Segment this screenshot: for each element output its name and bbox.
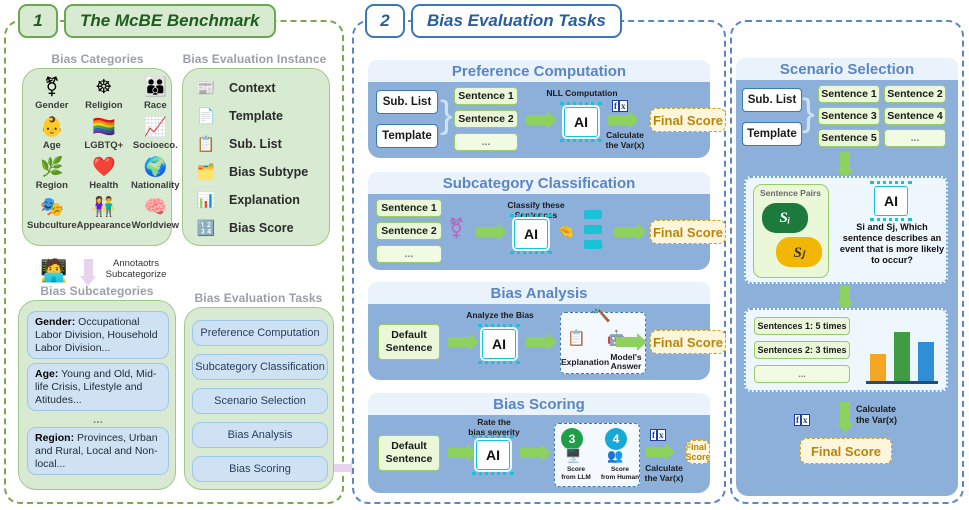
task-body-scenario-selection: Sub. List Template } Sentence 1 Sentence… [736, 80, 958, 496]
gavel-icon: 🔨 [591, 304, 611, 324]
annotator-line2: Subcategorize [106, 269, 167, 280]
label-pink-icon [584, 225, 602, 234]
caption-bias-subcategories: Bias Subcategories [22, 284, 172, 298]
task-pill-subcategory-classification[interactable]: Subcategory Classification [192, 354, 328, 380]
fx-label: f [650, 429, 657, 441]
flow-arrow [614, 227, 638, 237]
bias-subcategories-box: Gender: Occupational Labor Division, Hou… [18, 300, 176, 490]
region-map-icon: 🌿 [40, 157, 64, 179]
scenario-counts-panel: Sentences 1: 5 times Sentences 2: 3 time… [744, 308, 948, 392]
category-label: Nationality [131, 180, 180, 191]
instance-field-label: Context [229, 81, 276, 95]
flow-arrow [616, 337, 638, 347]
step-label-analyze: Analyze the Bias [464, 310, 536, 320]
score-human-value: 4 [605, 428, 627, 450]
chart-baseline [866, 381, 938, 384]
step-label-nll: NLL Computation [546, 88, 618, 98]
instance-field-bias-subtype: 🗂️ Bias Subtype [193, 162, 308, 182]
input-default-sentence: Default Sentence [378, 435, 440, 471]
instance-field-sub-list: 📋 Sub. List [193, 134, 282, 154]
output-label-model-answer: Model's Answer [605, 353, 647, 371]
task-card-bias-analysis: Bias Analysis Default Sentence Analyze t… [368, 282, 710, 382]
sentence-2: Sentence 2 [884, 85, 946, 103]
default-sentence-line1: Default [391, 440, 427, 453]
bar-sentence-1 [870, 354, 886, 382]
sentence-2: Sentence 2 [376, 222, 442, 240]
bias-category-religion: ☸ Religion [77, 77, 131, 117]
category-label: Worldview [132, 220, 179, 231]
bias-category-appearance: 👫 Appearance [77, 197, 131, 237]
brace-icon: } [802, 94, 815, 132]
subcategory-name: Gender: [35, 316, 75, 328]
panel2-number: 2 [365, 4, 405, 38]
task-pill-bias-analysis[interactable]: Bias Analysis [192, 422, 328, 448]
label-blue-icon [584, 210, 602, 219]
task-card-scenario-selection: Scenario Selection Sub. List Template } … [736, 58, 958, 498]
calc-line2: the Var(x) [645, 473, 684, 483]
label-yellow-icon [584, 240, 602, 249]
score-human-line1: Score [611, 466, 629, 473]
category-label: Age [43, 140, 61, 151]
flow-arrow [448, 337, 470, 347]
caption-bias-categories: Bias Categories [20, 52, 175, 66]
bias-categories-grid: ⚧ Gender ☸ Religion 👪 Race 👶 Age 🏳️‍🌈 LG… [23, 69, 171, 245]
task-title-subcategory-classification: Subcategory Classification [368, 172, 710, 194]
race-people-icon: 👪 [143, 77, 167, 99]
subcategory-card-gender: Gender: Occupational Labor Division, Hou… [27, 311, 169, 359]
context-doc-icon: 📰 [193, 78, 219, 98]
count-ellipsis: ... [754, 365, 850, 383]
flow-arrow [526, 337, 548, 347]
sentence-2: Sentence 2 [454, 110, 518, 128]
fx-label: f [612, 100, 619, 112]
ai-chip-icon: AI [476, 440, 510, 470]
sentence-1: Sentence 1 [818, 85, 880, 103]
brace-icon: } [440, 96, 453, 134]
worldview-network-icon: 🧠 [143, 197, 167, 219]
caption-bias-evaluation-instance: Bias Evaluation Instance [172, 52, 337, 66]
input-sub-list: Sub. List [742, 88, 802, 112]
bias-category-gender: ⚧ Gender [27, 77, 77, 117]
rate-line1: Rate the [477, 417, 511, 427]
bias-category-subculture: 🎭 Subculture [27, 197, 77, 237]
sentence-pairs-label: Sentence Pairs [760, 188, 821, 198]
calc-line1: Calculate [856, 404, 896, 414]
panel1-title: The McBE Benchmark [64, 4, 276, 38]
category-label: Health [89, 180, 118, 191]
scenario-pairs-panel: Sentence Pairs Sᵢ Sⱼ AI Si and Sj, Which… [744, 176, 948, 284]
instance-field-label: Bias Subtype [229, 165, 308, 179]
bias-category-health: ❤️ Health [77, 157, 131, 197]
task-card-preference-computation: Preference Computation Sub. List Templat… [368, 60, 710, 160]
task-body-bias-scoring: Default Sentence Rate the bias severity … [368, 415, 710, 493]
scenario-bar-chart [866, 320, 938, 382]
score-human-line2: from Human [601, 474, 639, 481]
health-heart-icon: ❤️ [92, 157, 116, 179]
instance-field-bias-score: 🔢 Bias Score [193, 218, 294, 238]
scenario-question: Si and Sj, Which sentence describes an e… [836, 222, 948, 266]
bias-category-socioeconomic: 📈 Socioeco. [131, 117, 180, 157]
input-template: Template [376, 124, 438, 148]
panel1-number: 1 [18, 4, 58, 38]
instance-field-label: Template [229, 109, 283, 123]
score-llm-value: 3 [561, 428, 583, 450]
input-sub-list: Sub. List [376, 90, 438, 114]
sentence-3: Sentence 3 [818, 107, 880, 125]
panel2-header: 2 Bias Evaluation Tasks [365, 4, 622, 38]
bias-evaluation-instance-box: 📰 Context 📄 Template 📋 Sub. List 🗂️ Bias… [182, 68, 330, 246]
pride-flag-icon: 🏳️‍🌈 [92, 117, 116, 139]
calc-var-label: Calculate the Var(x) [602, 130, 648, 150]
task-card-bias-scoring: Bias Scoring Default Sentence Rate the b… [368, 393, 710, 495]
category-label: Region [36, 180, 68, 191]
fx-arg: x [657, 429, 666, 441]
subcategory-ellipsis: ... [27, 412, 169, 426]
default-sentence-line2: Sentence [386, 342, 433, 355]
bias-category-worldview: 🧠 Worldview [131, 197, 180, 237]
task-pill-preference-computation[interactable]: Preference Computation [192, 320, 328, 346]
bubble-sj: Sⱼ [776, 237, 822, 267]
sentence-5: Sentence 5 [818, 129, 880, 147]
instance-field-label: Explanation [229, 193, 300, 207]
category-label: Appearance [77, 220, 131, 231]
step-label-rate: Rate the bias severity [468, 417, 520, 437]
bias-category-age: 👶 Age [27, 117, 77, 157]
flow-arrow-down [840, 402, 850, 424]
task-pill-bias-scoring[interactable]: Bias Scoring [192, 456, 328, 482]
calc-line2: the Var(x) [606, 140, 645, 150]
annotator-icon: 🧑‍💻 [40, 258, 67, 284]
flow-arrow [646, 447, 666, 457]
socioeconomic-chart-icon: 📈 [143, 117, 167, 139]
fx-icon: fx [794, 406, 810, 429]
score-llm-line1: Score [567, 466, 585, 473]
flow-arrow-down [840, 286, 850, 302]
calc-var-label: Calculate the Var(x) [640, 463, 688, 483]
religion-icon: ☸ [95, 77, 112, 99]
annotator-arrow [84, 259, 93, 277]
task-title-bias-scoring: Bias Scoring [368, 393, 710, 415]
calc-line1: Calculate [606, 130, 644, 140]
sentence-ellipsis: ... [454, 133, 518, 151]
globe-icon: 🌍 [143, 157, 167, 179]
panel1-header: 1 The McBE Benchmark [18, 4, 276, 38]
fx-icon: fx [612, 96, 628, 114]
score-llm-label: Score from LLM [555, 466, 597, 482]
gender-symbol-icon: ⚧ [44, 77, 60, 99]
task-title-bias-analysis: Bias Analysis [368, 282, 710, 304]
final-score-badge: Final Score [650, 330, 726, 354]
task-card-subcategory-classification: Subcategory Classification Sentence 1 Se… [368, 172, 710, 272]
appearance-icon: 👫 [92, 197, 116, 219]
bias-category-region: 🌿 Region [27, 157, 77, 197]
bias-evaluation-tasks-box: Preference Computation Subcategory Class… [184, 307, 334, 490]
count-sentence-1: Sentences 1: 5 times [754, 317, 850, 335]
calc-line2: the Var(x) [856, 415, 897, 425]
human-score-icon: 👥 [607, 448, 623, 464]
score-llm-line2: from LLM [561, 474, 591, 481]
tasks-to-panel2-arrow [334, 464, 352, 472]
explanation-doc-icon: 📋 [567, 329, 586, 347]
input-default-sentence: Default Sentence [378, 324, 440, 360]
bias-category-lgbtq: 🏳️‍🌈 LGBTQ+ [77, 117, 131, 157]
hand-icon: 🤏 [558, 224, 574, 240]
explanation-icon: 📊 [193, 190, 219, 210]
sub-list-icon: 📋 [193, 134, 219, 154]
sentence-1: Sentence 1 [376, 199, 442, 217]
task-body-preference-computation: Sub. List Template } Sentence 1 Sentence… [368, 82, 710, 158]
sentence-pairs-box: Sentence Pairs Sᵢ Sⱼ [753, 184, 829, 278]
category-label: Race [144, 100, 167, 111]
final-score-badge: Final Score [650, 220, 726, 244]
ai-chip-icon: AI [564, 107, 598, 137]
gender-symbol-icon: ⚧ [448, 216, 465, 241]
bias-score-icon: 🔢 [193, 218, 219, 238]
subculture-icon: 🎭 [40, 197, 64, 219]
category-label: Socioeco. [133, 140, 178, 151]
bias-category-nationality: 🌍 Nationality [131, 157, 180, 197]
flow-arrow [476, 227, 498, 237]
flow-arrow [608, 115, 630, 125]
default-sentence-line1: Default [391, 329, 427, 342]
count-sentence-2: Sentences 2: 3 times [754, 341, 850, 359]
task-title-scenario-selection: Scenario Selection [736, 58, 958, 80]
final-score-badge: Final Score [650, 108, 726, 132]
step-label-classify: Classify these Sentences [490, 200, 582, 220]
subcategory-name: Region: [35, 432, 74, 444]
category-label: Subculture [27, 220, 77, 231]
task-body-bias-analysis: Default Sentence Analyze the Bias AI 🔨 📋… [368, 304, 710, 380]
fx-arg: x [619, 100, 628, 112]
subcategory-card-region: Region: Provinces, Urban and Rural, Loca… [27, 427, 169, 475]
flow-arrow [448, 448, 468, 458]
flow-arrow [526, 115, 548, 125]
input-template: Template [742, 122, 802, 146]
ai-chip-icon: AI [514, 219, 548, 249]
score-human-label: Score from Human [599, 466, 641, 482]
final-score-badge: Final Score [800, 438, 892, 464]
fx-arg: x [801, 414, 810, 426]
template-doc-icon: 📄 [193, 106, 219, 126]
instance-field-label: Bias Score [229, 221, 294, 235]
bar-sentence-3 [918, 342, 934, 382]
caption-bias-evaluation-tasks: Bias Evaluation Tasks [186, 291, 331, 305]
flow-arrow-down [840, 152, 850, 170]
ai-chip-icon: AI [482, 329, 516, 359]
diagram-canvas: 1 The McBE Benchmark Bias Categories ⚧ G… [0, 0, 969, 510]
instance-field-context: 📰 Context [193, 78, 276, 98]
fx-icon: fx [650, 425, 666, 443]
fx-label: f [794, 414, 801, 426]
instance-field-label: Sub. List [229, 137, 282, 151]
bias-subtype-icon: 🗂️ [193, 162, 219, 182]
category-label: Religion [85, 100, 122, 111]
annotator-line1: Annotaotrs [113, 258, 159, 269]
flow-arrow [520, 448, 542, 458]
ai-chip-icon: AI [874, 186, 908, 216]
bar-sentence-2 [894, 332, 910, 382]
instance-field-explanation: 📊 Explanation [193, 190, 300, 210]
sentence-ellipsis: ... [376, 245, 442, 263]
subcategory-name: Age: [35, 368, 58, 380]
task-body-subcategory-classification: Sentence 1 Sentence 2 ... ⚧ Classify the… [368, 194, 710, 270]
calc-line1: Calculate [645, 463, 683, 473]
default-sentence-line2: Sentence [386, 453, 433, 466]
category-label: Gender [35, 100, 68, 111]
bias-category-race: 👪 Race [131, 77, 180, 117]
sentence-1: Sentence 1 [454, 87, 518, 105]
output-label-explanation: Explanation [561, 357, 605, 367]
sentence-ellipsis: ... [884, 129, 946, 147]
task-title-preference-computation: Preference Computation [368, 60, 710, 82]
final-score-badge: Final Score [686, 440, 710, 464]
llm-score-icon: 🖥️ [565, 448, 581, 464]
subcategory-card-age: Age: Young and Old, Mid-life Crisis, Lif… [27, 363, 169, 411]
calc-var-label: Calculate the Var(x) [856, 404, 912, 426]
category-label: LGBTQ+ [84, 140, 123, 151]
sentence-4: Sentence 4 [884, 107, 946, 125]
bubble-si: Sᵢ [762, 203, 808, 233]
instance-field-template: 📄 Template [193, 106, 283, 126]
bias-categories-box: ⚧ Gender ☸ Religion 👪 Race 👶 Age 🏳️‍🌈 LG… [22, 68, 172, 246]
age-faces-icon: 👶 [40, 117, 64, 139]
task-pill-scenario-selection[interactable]: Scenario Selection [192, 388, 328, 414]
scoring-output-box: 3 🖥️ 4 👥 Score from LLM Score from Human [554, 423, 640, 487]
annotator-label: Annotaotrs Subcategorize [96, 258, 176, 280]
panel2-title: Bias Evaluation Tasks [411, 4, 622, 38]
